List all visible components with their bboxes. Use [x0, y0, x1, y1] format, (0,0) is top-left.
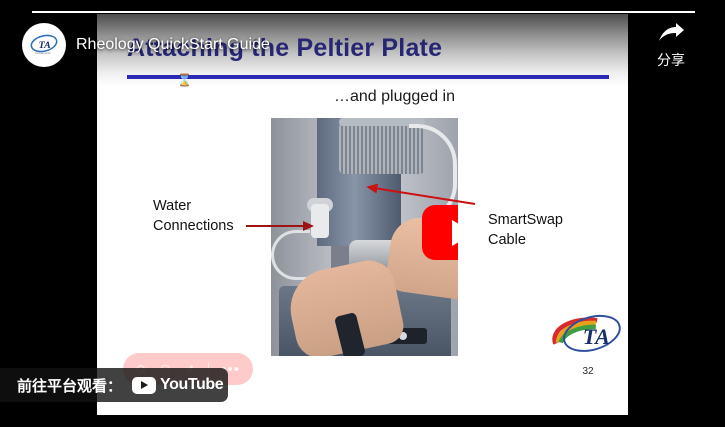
video-player: Attaching the Peltier Plate ⌛ …and plugg…: [0, 0, 725, 427]
svg-text:Instruments: Instruments: [35, 51, 51, 55]
share-label: 分享: [641, 50, 701, 70]
watch-on-platform-overlay[interactable]: 前往平台观看： YouTube: [0, 368, 228, 402]
share-button[interactable]: 分享: [641, 22, 701, 70]
arrow-to-water-connections: [246, 225, 312, 227]
slide-page-number: 32: [549, 366, 627, 377]
callout-line-1: SmartSwap: [488, 211, 563, 231]
rheometer-photo: [271, 118, 458, 356]
youtube-badge-icon: [132, 377, 156, 394]
channel-avatar[interactable]: TA Instruments: [22, 23, 66, 67]
callout-water-connections: Water Connections: [153, 197, 234, 236]
youtube-wordmark: YouTube: [132, 376, 223, 394]
svg-text:TA: TA: [583, 324, 610, 349]
slide-subtitle-text: …and plugged in: [334, 88, 455, 105]
seek-bar[interactable]: [32, 11, 695, 13]
watch-prefix-label: 前往平台观看：: [17, 375, 122, 396]
youtube-label: YouTube: [160, 376, 223, 394]
youtube-play-button[interactable]: [422, 205, 458, 260]
channel-header: TA Instruments Rheology QuickStart Guide: [22, 23, 270, 67]
callout-line-2: Connections: [153, 217, 234, 237]
svg-text:TA: TA: [39, 40, 51, 51]
callout-line-1: Water: [153, 197, 234, 217]
ta-instruments-logo-icon: TA: [549, 310, 627, 362]
title-underline: [127, 75, 609, 79]
share-arrow-icon: [657, 22, 685, 44]
callout-smartswap-cable: SmartSwap Cable: [488, 211, 563, 250]
play-triangle-icon: [452, 220, 458, 246]
channel-title: Rheology QuickStart Guide: [76, 36, 270, 54]
callout-line-2: Cable: [488, 231, 563, 251]
hourglass-cursor-icon: ⌛: [177, 74, 186, 87]
slide-subtitle: …and plugged in: [97, 88, 628, 106]
